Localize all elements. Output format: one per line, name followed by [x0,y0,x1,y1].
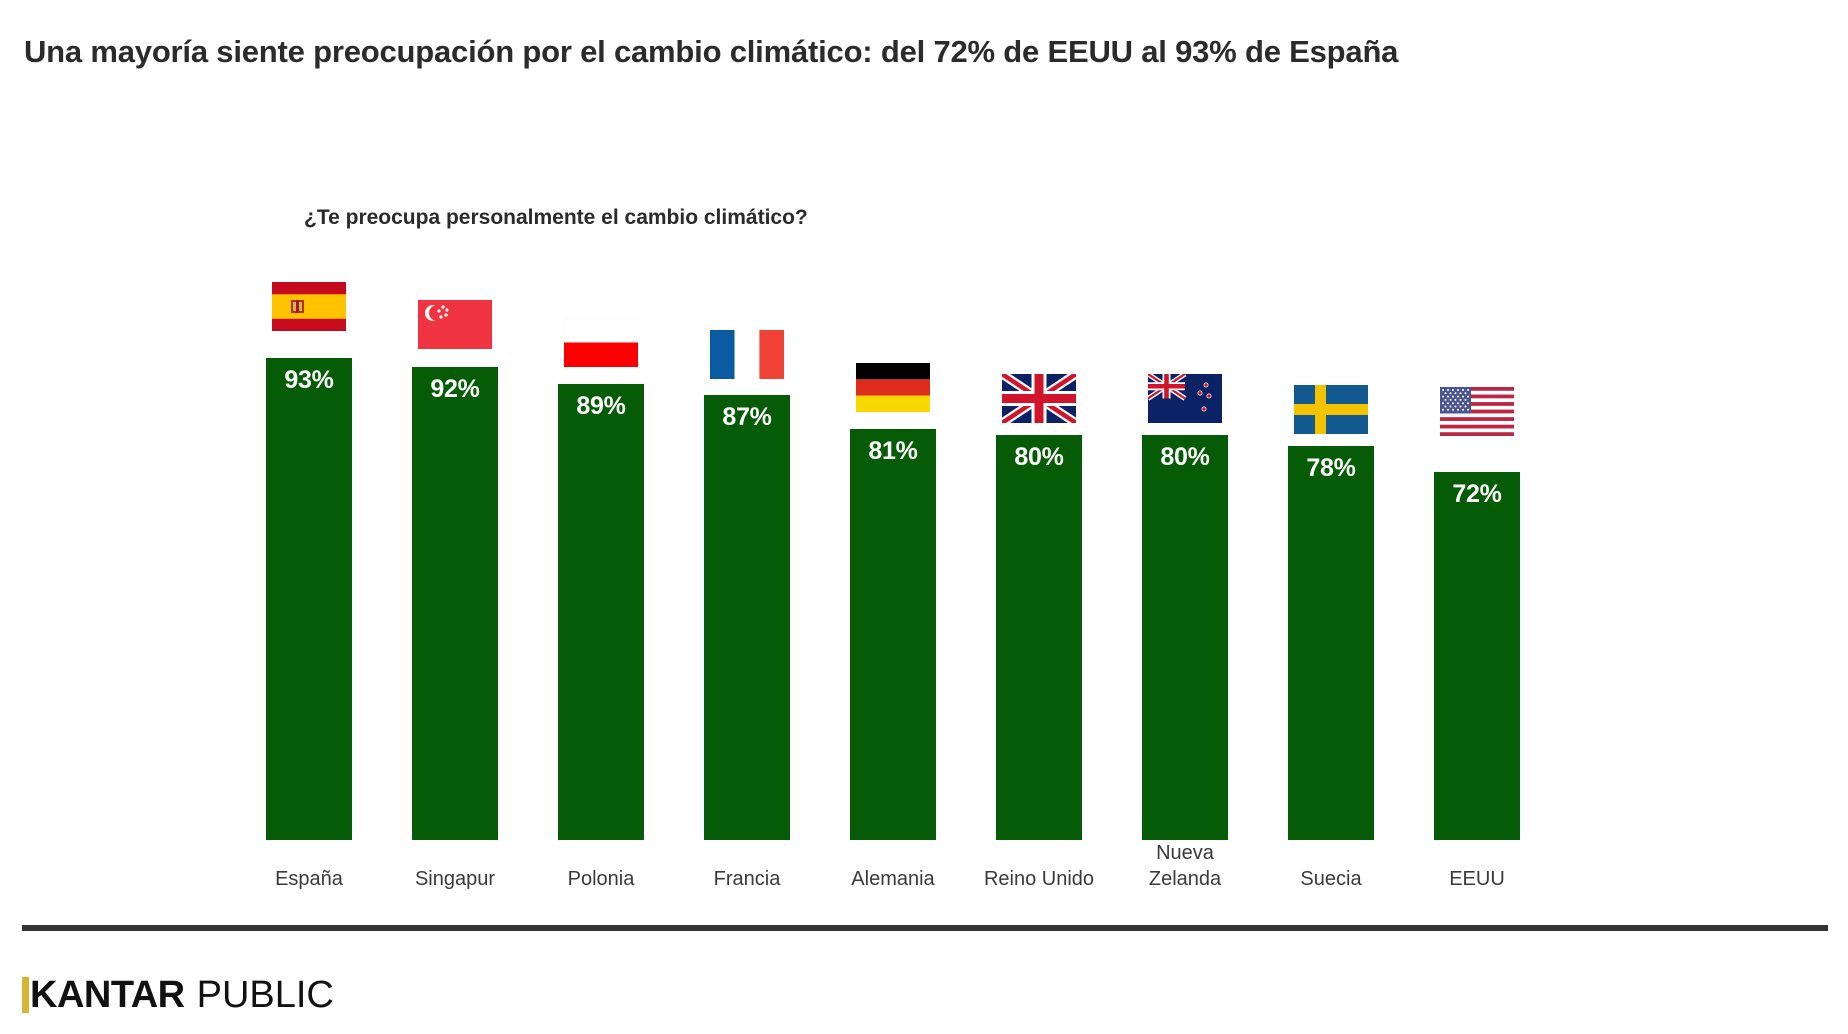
poland-flag-icon [564,318,638,367]
bar-value-francia: 87% [704,403,790,432]
germany-flag-icon [856,363,930,412]
sweden-flag-icon [1294,385,1368,434]
footer-divider [22,925,1828,931]
brand-name-kantar: KANTAR [30,977,185,1013]
bar-group-espana: 93% España [235,0,383,900]
bar-value-eeuu: 72% [1434,480,1520,509]
bar-value-reino-unido: 80% [996,443,1082,472]
bar-alemania[interactable]: 81% [850,429,936,840]
category-label-espana: España [225,866,393,892]
brand-name-public: PUBLIC [197,977,334,1013]
bar-group-nueva-zelanda: 80% Nueva Zelanda [1111,0,1259,900]
bar-espana[interactable]: 93% [266,358,352,840]
bar-francia[interactable]: 87% [704,395,790,840]
category-label-singapur: Singapur [371,866,539,892]
bar-nueva-zelanda[interactable]: 80% [1142,435,1228,840]
new-zealand-flag-icon [1148,374,1222,423]
bar-value-alemania: 81% [850,437,936,466]
bar-group-suecia: 78% Suecia [1257,0,1405,900]
france-flag-icon [710,330,784,379]
bar-group-francia: 87% Francia [673,0,821,900]
bar-reino-unido[interactable]: 80% [996,435,1082,840]
bar-chart-plot-area: 93% España 92% Singapur [0,0,1848,900]
united-kingdom-flag-icon [1002,374,1076,423]
bar-group-singapur: 92% Singapur [381,0,529,900]
bar-value-nueva-zelanda: 80% [1142,443,1228,472]
bar-eeuu[interactable]: 72% [1434,472,1520,840]
bar-group-eeuu: 72% EEUU [1403,0,1551,900]
category-label-reino-unido: Reino Unido [955,866,1123,892]
category-label-polonia: Polonia [517,866,685,892]
category-label-alemania: Alemania [809,866,977,892]
bar-value-suecia: 78% [1288,454,1374,483]
bar-group-reino-unido: 80% Reino Unido [965,0,1113,900]
bar-polonia[interactable]: 89% [558,384,644,840]
bar-group-polonia: 89% Polonia [527,0,675,900]
singapore-flag-icon [418,300,492,349]
category-label-nueva-zelanda: Nueva Zelanda [1101,840,1269,892]
kantar-public-logo: KANTAR PUBLIC [22,976,334,1014]
united-states-flag-icon [1440,387,1514,436]
category-label-francia: Francia [663,866,831,892]
brand-accent-bar [22,977,29,1013]
bar-value-polonia: 89% [558,392,644,421]
bar-suecia[interactable]: 78% [1288,446,1374,840]
bar-singapur[interactable]: 92% [412,367,498,840]
spain-flag-icon [272,282,346,331]
bar-value-singapur: 92% [412,375,498,404]
category-label-suecia: Suecia [1247,866,1415,892]
category-label-eeuu: EEUU [1393,866,1561,892]
bar-group-alemania: 81% Alemania [819,0,967,900]
bar-value-espana: 93% [266,366,352,395]
